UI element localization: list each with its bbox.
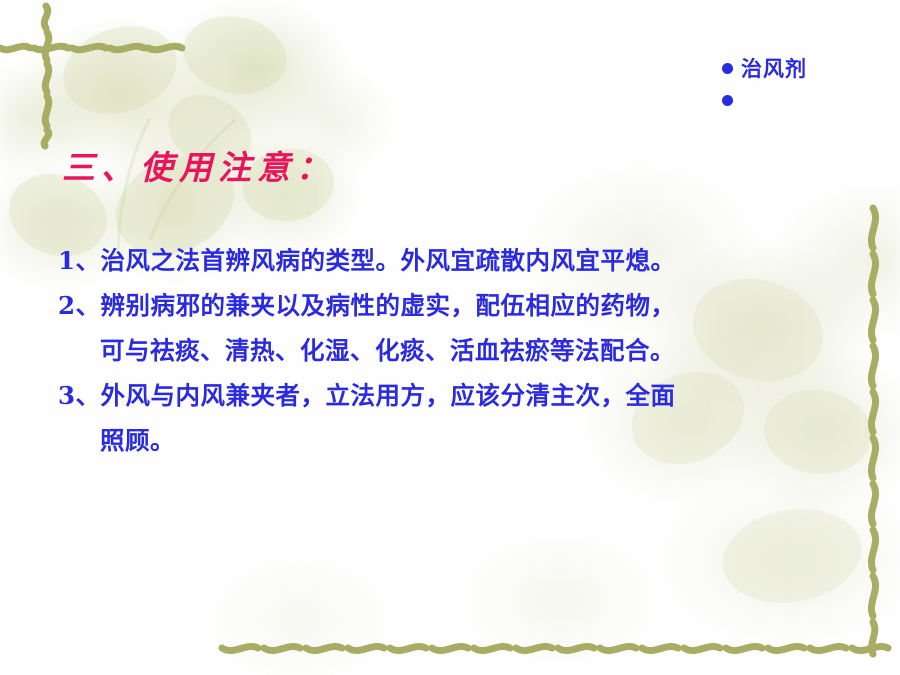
- bullet-dot-icon: [722, 95, 733, 106]
- list-item: 3、外风与内风兼夹者，立法用方，应该分清主次，全面 照顾。: [58, 373, 858, 463]
- bamboo-stalk-right: [856, 200, 896, 660]
- page-title: 三、使用注意：: [62, 141, 335, 189]
- bamboo-cross-top-left: [0, 0, 210, 160]
- list-item-line: 照顾。: [58, 418, 858, 463]
- header-bullet-list: 治风剂: [722, 52, 900, 116]
- header-bullet-item-2: [722, 84, 900, 116]
- list-item: 2、辨别病邪的兼夹以及病性的虚实，配伍相应的药物， 可与祛痰、清热、化湿、化痰、…: [58, 283, 858, 373]
- list-item: 1、治风之法首辨风病的类型。外风宜疏散内风宜平熄。: [58, 238, 858, 283]
- list-item-line: 1、治风之法首辨风病的类型。外风宜疏散内风宜平熄。: [58, 238, 858, 283]
- bullet-dot-icon: [722, 63, 733, 74]
- content-list: 1、治风之法首辨风病的类型。外风宜疏散内风宜平熄。 2、辨别病邪的兼夹以及病性的…: [58, 238, 858, 463]
- header-bullet-item-1: 治风剂: [722, 52, 900, 84]
- slide-canvas: 治风剂 三、使用注意： 1、治风之法首辨风病的类型。外风宜疏散内风宜平熄。 2、…: [0, 0, 900, 675]
- list-item-line: 3、外风与内风兼夹者，立法用方，应该分清主次，全面: [58, 373, 858, 418]
- list-item-line: 可与祛痰、清热、化湿、化痰、活血祛瘀等法配合。: [58, 328, 858, 373]
- list-item-line: 2、辨别病邪的兼夹以及病性的虚实，配伍相应的药物，: [58, 283, 858, 328]
- bamboo-stalk-bottom: [218, 628, 898, 672]
- header-bullet-label-1: 治风剂: [741, 53, 807, 83]
